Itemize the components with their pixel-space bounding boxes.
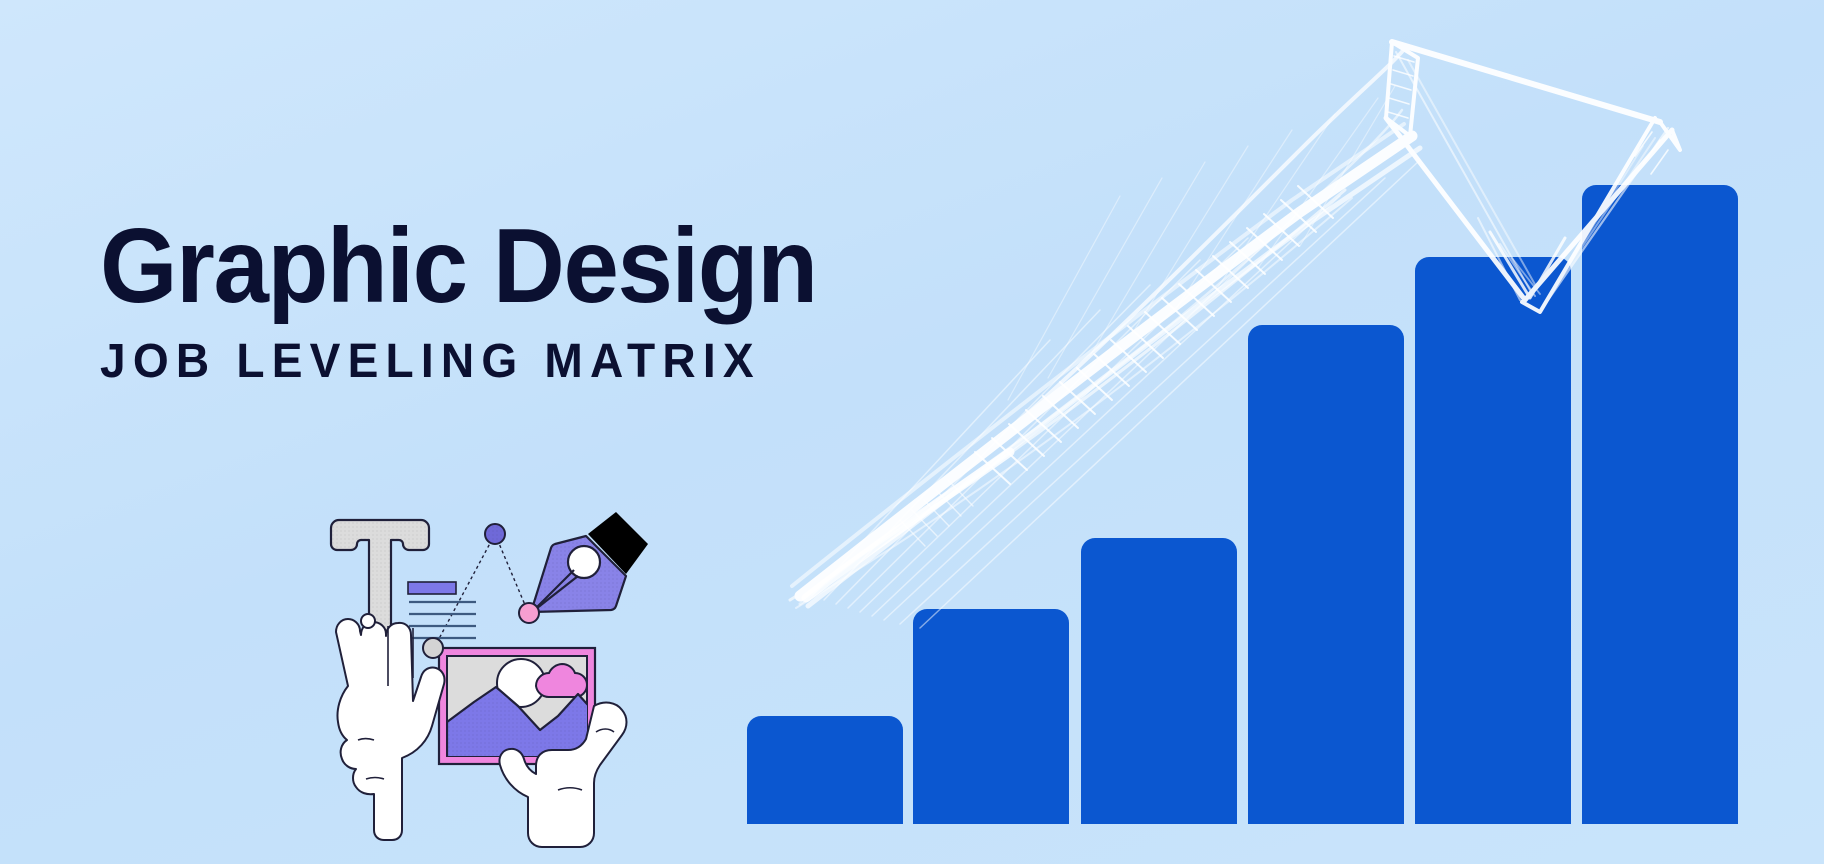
- bar-level-1: [747, 716, 903, 824]
- bar-chart: [0, 0, 1824, 864]
- page-subtitle: JOB LEVELING MATRIX: [100, 334, 832, 389]
- page-title: Graphic Design: [100, 212, 817, 320]
- anchor-point-pink-icon: [519, 603, 539, 623]
- bar-level-2: [913, 609, 1069, 824]
- image-frame-icon: [439, 648, 596, 764]
- bar-level-4: [1248, 325, 1404, 824]
- bar-level-5: [1415, 257, 1571, 824]
- anchor-point-gray-icon: [423, 638, 443, 658]
- text-lines-icon: [408, 582, 476, 638]
- pen-nib-icon: [531, 512, 648, 612]
- poster-canvas: Graphic Design JOB LEVELING MATRIX: [0, 0, 1824, 864]
- headline-block: Graphic Design JOB LEVELING MATRIX: [100, 212, 862, 389]
- graphic-design-tools-illustration: [296, 490, 656, 850]
- bar-level-3: [1081, 538, 1237, 824]
- bar-level-6: [1582, 185, 1738, 824]
- anchor-point-fingertip-icon: [361, 614, 375, 628]
